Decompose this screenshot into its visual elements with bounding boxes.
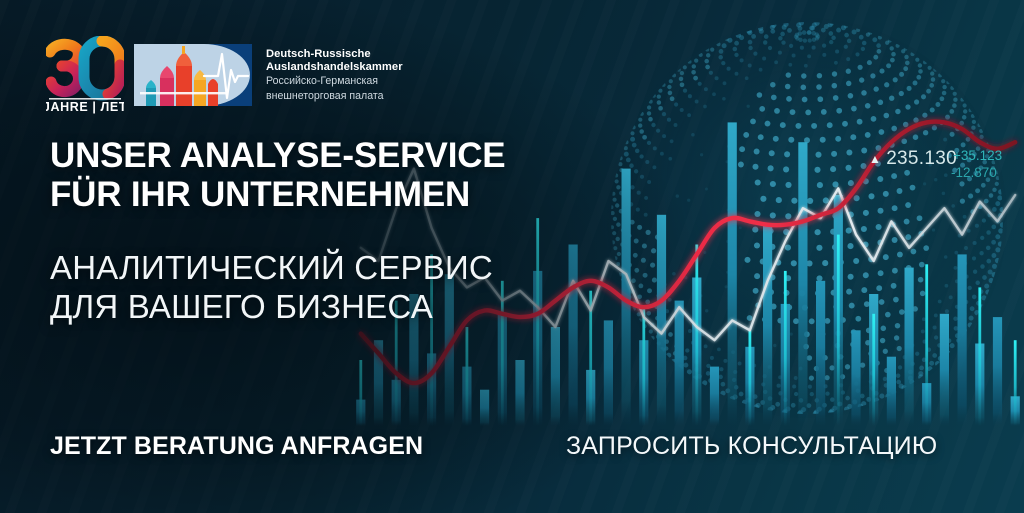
triangle-up-icon: ▲ <box>869 153 881 165</box>
anniversary-30-mark: JAHRE | ЛЕТ <box>46 36 124 114</box>
cta-german[interactable]: JETZT BERATUNG ANFRAGEN <box>50 432 423 461</box>
ticker-value-group: ▲ 235.130 <box>869 148 957 170</box>
ahk-logo-wordmark: Deutsch-Russische Auslandshandelskammer … <box>266 48 403 102</box>
ahk-emblem-icon <box>134 44 252 106</box>
ticker-change-down: -12.870 <box>951 165 997 180</box>
headline-ru-line2: ДЛЯ ВАШЕГО БИЗНЕСА <box>50 287 493 326</box>
logo-name-de-line2: Auslandshandelskammer <box>266 61 403 74</box>
ahk-logo[interactable]: JAHRE | ЛЕТ <box>46 36 403 114</box>
ticker-readout: ▲ 235.130 +35.123 -12.870 <box>869 148 1019 186</box>
logo-name-ru-line2: внешнеторговая палата <box>266 90 403 102</box>
headline-ru-line1: АНАЛИТИЧЕСКИЙ СЕРВИС <box>50 248 493 287</box>
logo-name-ru-line1: Российско-Германская <box>266 75 403 87</box>
headline-de-line2: FÜR IHR UNTERNEHMEN <box>50 175 505 214</box>
headline-de-line1: UNSER ANALYSE-SERVICE <box>50 136 505 175</box>
headline-german: UNSER ANALYSE-SERVICE FÜR IHR UNTERNEHME… <box>50 136 505 214</box>
ticker-value: 235.130 <box>886 148 957 170</box>
logo-name-de-line1: Deutsch-Russische <box>266 48 403 61</box>
promo-banner: JAHRE | ЛЕТ <box>0 0 1024 513</box>
ticker-change-up: +35.123 <box>953 148 1002 163</box>
headline-russian: АНАЛИТИЧЕСКИЙ СЕРВИС ДЛЯ ВАШЕГО БИЗНЕСА <box>50 248 493 326</box>
anniversary-caption: JAHRE | ЛЕТ <box>46 100 124 114</box>
cta-russian[interactable]: ЗАПРОСИТЬ КОНСУЛЬТАЦИЮ <box>566 432 937 461</box>
